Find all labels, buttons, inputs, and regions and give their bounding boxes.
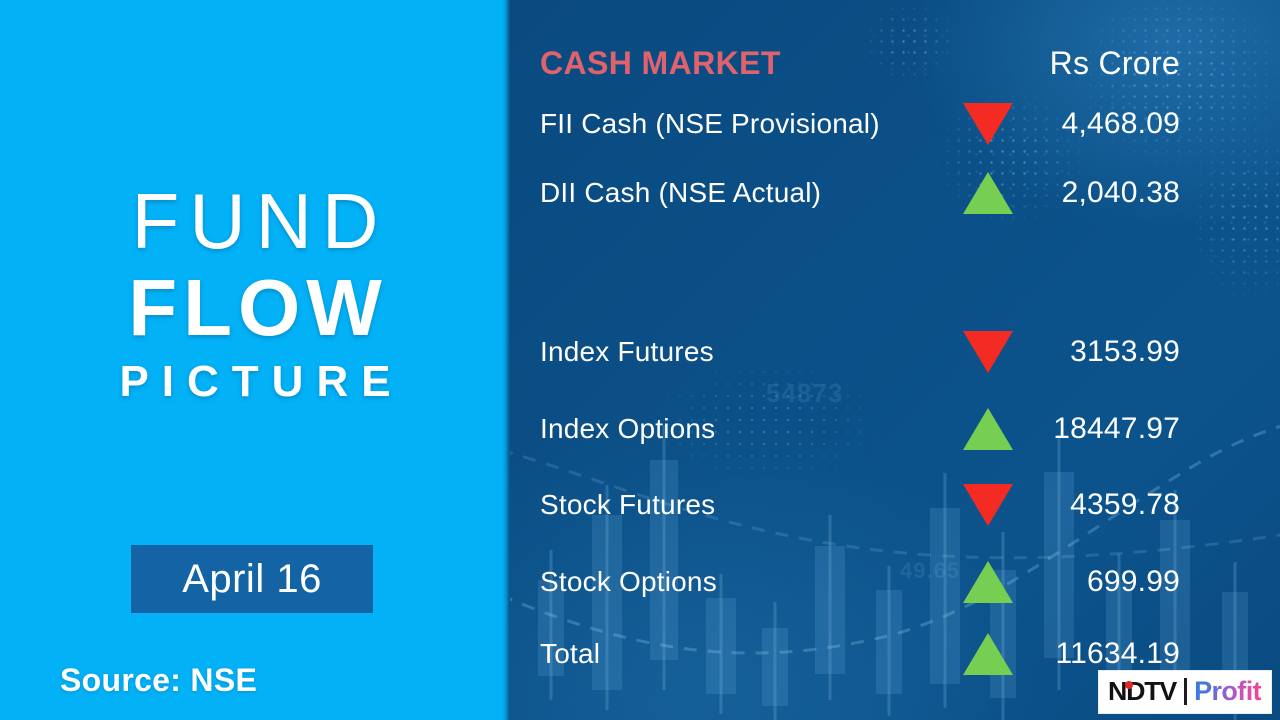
left-branding-panel: FUND FLOW PICTURE April 16 Source: NSE [0, 0, 510, 720]
row-value: 4,468.09 [1036, 107, 1280, 141]
logo-divider [1184, 678, 1187, 705]
direction-indicator [940, 331, 1036, 373]
table-row: Stock Futures 4359.78 [510, 477, 1280, 533]
row-label: Stock Options [510, 566, 940, 598]
direction-indicator [940, 561, 1036, 603]
profit-wordmark: Profit [1194, 676, 1261, 707]
table-row: Index Options 18447.97 [510, 401, 1280, 457]
row-label: Index Futures [510, 336, 940, 368]
table-row: Index Futures 3153.99 [510, 324, 1280, 380]
row-label: DII Cash (NSE Actual) [510, 177, 940, 209]
row-label: Index Options [510, 413, 940, 445]
brand-line-picture: PICTURE [0, 360, 510, 404]
infographic-stage: FUND FLOW PICTURE April 16 Source: NSE [0, 0, 1280, 720]
source-label: Source: NSE [60, 662, 257, 699]
triangle-down-icon [963, 103, 1013, 145]
date-badge: April 16 [131, 545, 373, 613]
row-label: Stock Futures [510, 489, 940, 521]
direction-indicator [940, 172, 1036, 214]
row-value: 699.99 [1036, 565, 1280, 599]
brand-line-flow: FLOW [0, 268, 510, 348]
row-value: 4359.78 [1036, 488, 1280, 522]
triangle-down-icon [963, 331, 1013, 373]
brand-line-fund: FUND [0, 182, 510, 260]
triangle-up-icon [963, 172, 1013, 214]
direction-indicator [940, 408, 1036, 450]
triangle-up-icon [963, 633, 1013, 675]
direction-indicator [940, 484, 1036, 526]
row-value: 11634.19 [1036, 637, 1280, 671]
row-value: 18447.97 [1036, 412, 1280, 446]
row-value: 3153.99 [1036, 335, 1280, 369]
direction-indicator [940, 633, 1036, 675]
ndtv-profit-logo: NDTV Profit [1098, 670, 1272, 714]
row-value: 2,040.38 [1036, 176, 1280, 210]
ndtv-wordmark: NDTV [1108, 676, 1176, 707]
table-row: Stock Options 699.99 [510, 554, 1280, 610]
triangle-up-icon [963, 408, 1013, 450]
table-header-row: CASH MARKET Rs Crore [510, 36, 1280, 90]
data-panel: 54873 49.65 CASH MARKET Rs Crore FII Cas… [510, 0, 1280, 720]
table-row: FII Cash (NSE Provisional) 4,468.09 [510, 96, 1280, 152]
cash-market-title: CASH MARKET [510, 45, 940, 82]
triangle-down-icon [963, 484, 1013, 526]
fund-flow-table: CASH MARKET Rs Crore FII Cash (NSE Provi… [510, 0, 1280, 720]
unit-label: Rs Crore [940, 45, 1280, 82]
triangle-up-icon [963, 561, 1013, 603]
row-label: FII Cash (NSE Provisional) [510, 108, 940, 140]
table-row: DII Cash (NSE Actual) 2,040.38 [510, 165, 1280, 221]
row-label: Total [510, 638, 940, 670]
brand-title: FUND FLOW PICTURE [0, 182, 510, 404]
direction-indicator [940, 103, 1036, 145]
